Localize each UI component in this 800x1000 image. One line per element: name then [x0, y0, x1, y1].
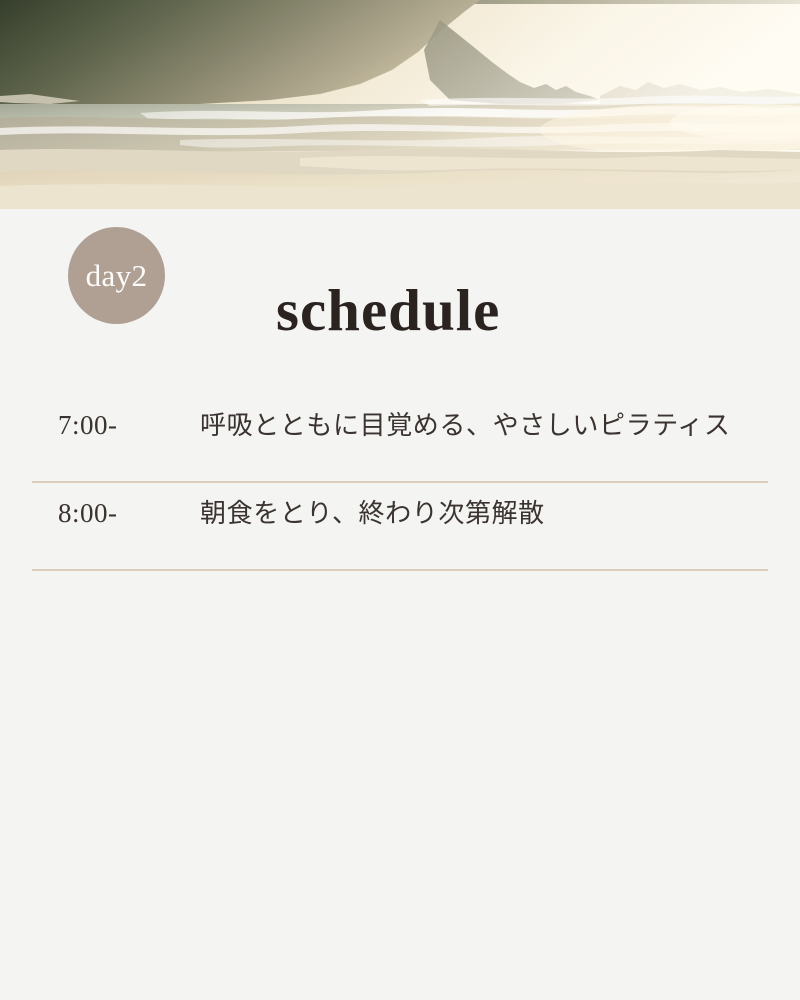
schedule-row: 8:00- 朝食をとり、終わり次第解散 — [32, 483, 768, 571]
schedule-row-activity: 呼吸とともに目覚める、やさしいピラティス — [200, 405, 768, 442]
day-badge: day2 — [68, 227, 165, 324]
schedule-page: day2 schedule 7:00- 呼吸とともに目覚める、やさしいピラティス… — [0, 0, 800, 1000]
day-badge-label: day2 — [86, 260, 148, 291]
hero-photo — [0, 0, 800, 209]
page-title: schedule — [276, 275, 500, 346]
schedule-row-activity: 朝食をとり、終わり次第解散 — [200, 493, 768, 530]
schedule-row-time: 7:00- — [32, 410, 200, 441]
schedule-row-time: 8:00- — [32, 498, 200, 529]
schedule-row: 7:00- 呼吸とともに目覚める、やさしいピラティス — [32, 395, 768, 483]
schedule-header: day2 schedule — [0, 209, 800, 395]
schedule-list: 7:00- 呼吸とともに目覚める、やさしいピラティス 8:00- 朝食をとり、終… — [0, 395, 800, 571]
beach-sunset-illustration — [0, 0, 800, 209]
